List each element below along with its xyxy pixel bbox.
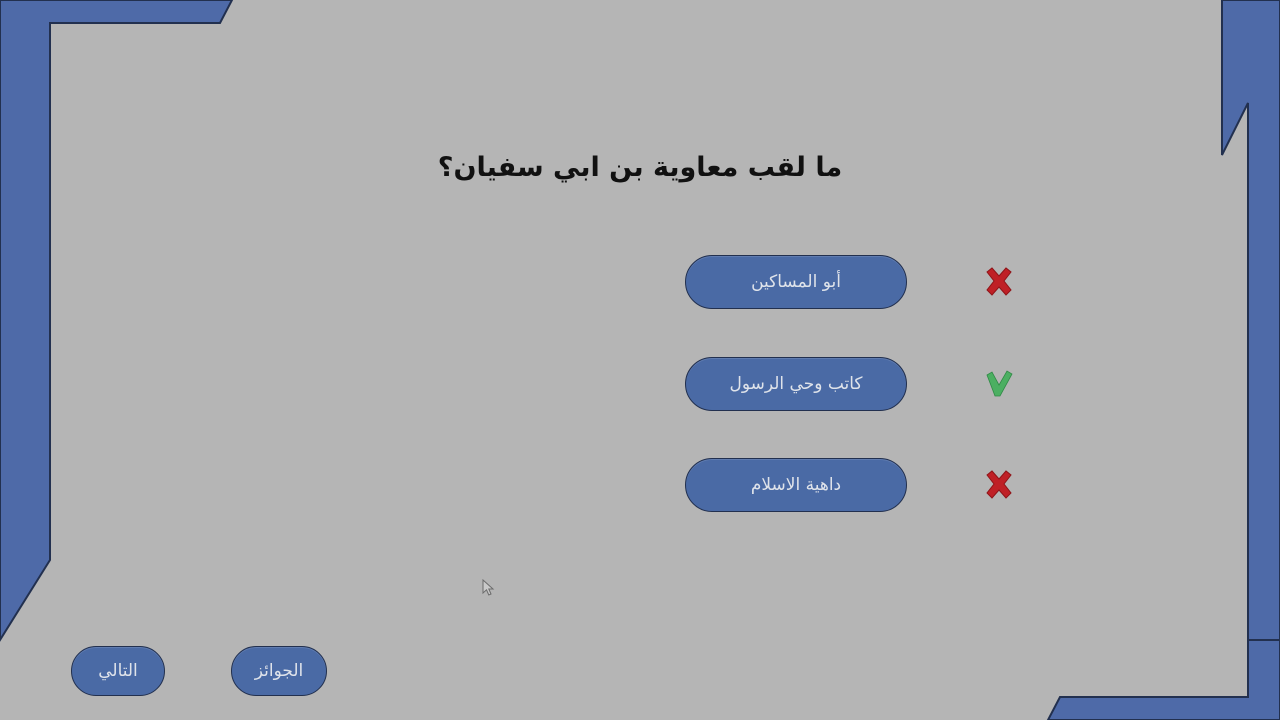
- answer-option-3[interactable]: داهية الاسلام: [685, 458, 907, 512]
- frame-bottom-right-shape: [1048, 640, 1280, 720]
- frame-right-shape: [1222, 0, 1280, 700]
- answer-option-2[interactable]: كاتب وحي الرسول: [685, 357, 907, 411]
- correct-mark-icon: [959, 369, 1039, 399]
- question-text: ما لقب معاوية بن ابي سفيان؟: [340, 152, 940, 183]
- answer-row: داهية الاسلام: [685, 458, 1040, 512]
- wrong-mark-icon: [959, 265, 1039, 299]
- frame-top-left-shape: [0, 0, 232, 640]
- decorative-frame: [0, 0, 1280, 720]
- prizes-button[interactable]: الجوائز: [231, 646, 327, 696]
- wrong-mark-icon: [959, 468, 1039, 502]
- answer-row: أبو المساكين: [685, 255, 1040, 309]
- answer-option-1[interactable]: أبو المساكين: [685, 255, 907, 309]
- answer-row: كاتب وحي الرسول: [685, 357, 1040, 411]
- quiz-slide: ما لقب معاوية بن ابي سفيان؟ أبو المساكين…: [0, 0, 1280, 720]
- mouse-pointer-icon: [482, 579, 496, 597]
- next-button[interactable]: التالي: [71, 646, 165, 696]
